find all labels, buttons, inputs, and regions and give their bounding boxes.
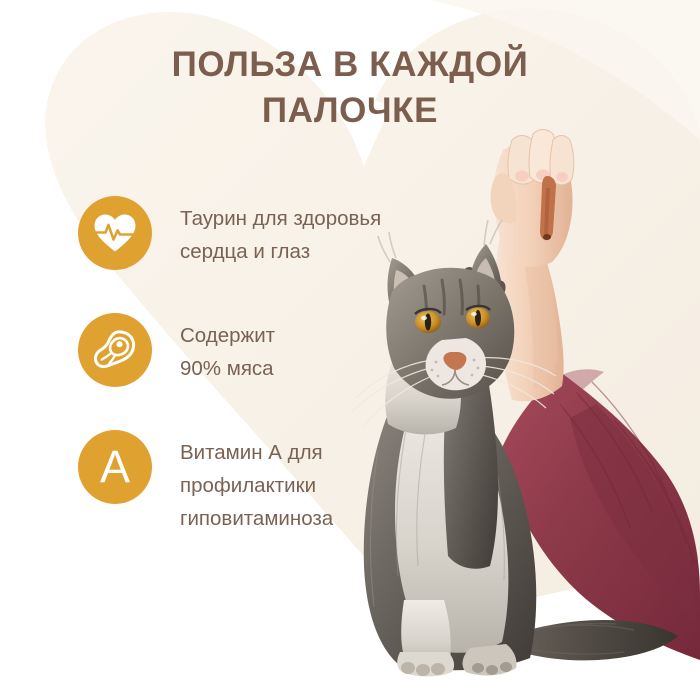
vitamin-a-letter: A: [100, 444, 130, 489]
benefit-item-meat: Содержит 90% мяса: [78, 313, 458, 387]
meat-steak-icon: [78, 313, 152, 387]
benefit-item-vitamin-a: A Витамин А для профилактики гиповитамин…: [78, 430, 458, 536]
benefit-item-taurine: Таурин для здоровья сердца и глаз: [78, 196, 458, 270]
heart-pulse-icon: [78, 196, 152, 270]
benefit-label-vitamin-a: Витамин А для профилактики гиповитаминоз…: [180, 430, 333, 536]
benefits-list: Таурин для здоровья сердца и глаз Содерж…: [78, 196, 458, 573]
vitamin-a-icon: A: [78, 430, 152, 504]
benefit-label-taurine: Таурин для здоровья сердца и глаз: [180, 196, 381, 268]
promo-banner: ПОЛЬЗА В КАЖДОЙ ПАЛОЧКЕ Таурин для здоро…: [0, 0, 700, 700]
benefit-label-meat: Содержит 90% мяса: [180, 313, 275, 385]
page-title: ПОЛЬЗА В КАЖДОЙ ПАЛОЧКЕ: [0, 42, 700, 133]
